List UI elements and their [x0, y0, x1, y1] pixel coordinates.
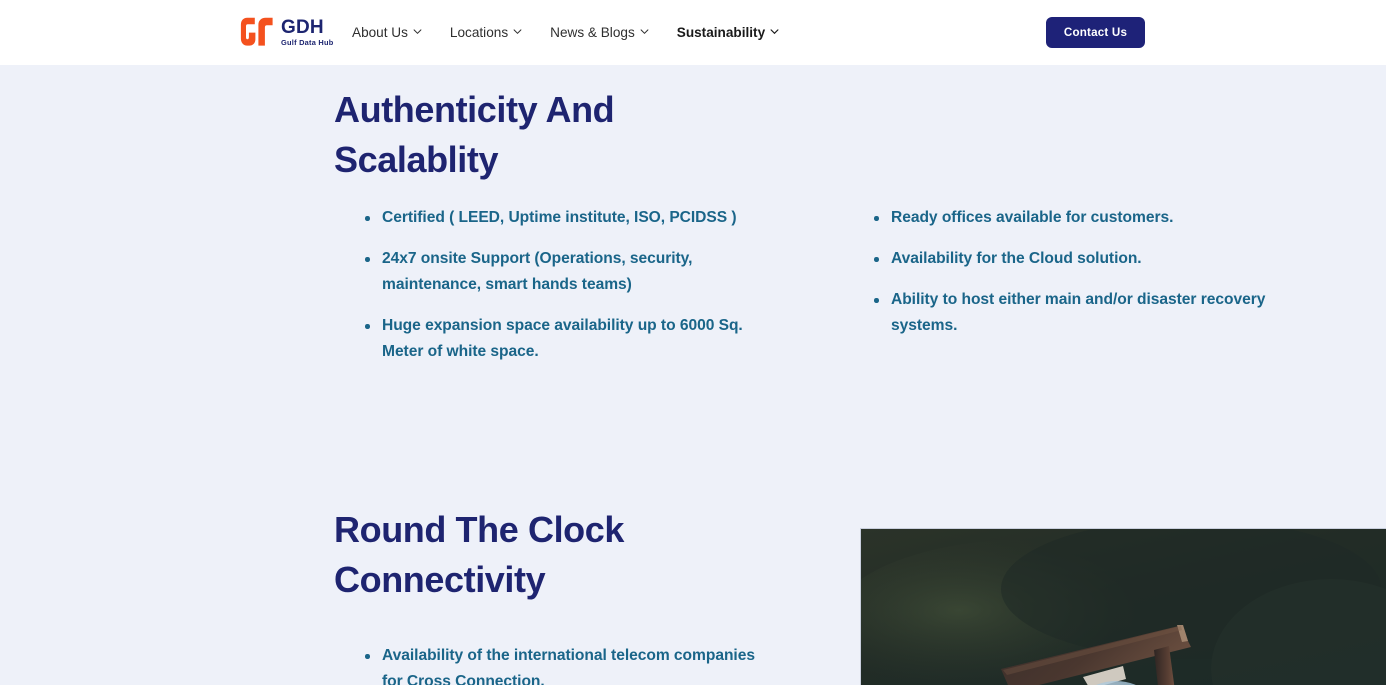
nav-item-label: Sustainability — [677, 25, 765, 40]
nav-item-label: News & Blogs — [550, 25, 635, 40]
list-item: Certified ( LEED, Uptime institute, ISO,… — [365, 205, 765, 231]
list-item: Availability for the Cloud solution. — [874, 246, 1274, 272]
list-item: Ability to host either main and/or disas… — [874, 287, 1274, 339]
gdh-logo-mark — [240, 17, 274, 47]
header-inner: GDH Gulf Data Hub About Us Locations New… — [0, 0, 1386, 65]
nav-item-label: Locations — [450, 25, 508, 40]
chevron-down-icon — [513, 27, 522, 36]
logo-link[interactable]: GDH Gulf Data Hub — [240, 17, 334, 47]
logo-subtitle: Gulf Data Hub — [281, 39, 334, 46]
section-title: Authenticity And Scalablity — [334, 85, 664, 185]
bullet-list-left: Certified ( LEED, Uptime institute, ISO,… — [365, 205, 765, 365]
nav-item-sustainability[interactable]: Sustainability — [677, 19, 779, 46]
site-header: GDH Gulf Data Hub About Us Locations New… — [0, 0, 1386, 65]
main-nav: About Us Locations News & Blogs Sustaina… — [352, 0, 779, 65]
list-item: Huge expansion space availability up to … — [365, 313, 765, 365]
nav-item-about-us[interactable]: About Us — [352, 19, 422, 46]
chevron-down-icon — [640, 27, 649, 36]
list-item: 24x7 onsite Support (Operations, securit… — [365, 246, 765, 298]
chevron-down-icon — [413, 27, 422, 36]
hourglass-photo — [860, 528, 1386, 685]
bullet-list-right: Ready offices available for customers. A… — [874, 205, 1274, 339]
chevron-down-icon — [770, 27, 779, 36]
list-item: Ready offices available for customers. — [874, 205, 1274, 231]
nav-item-locations[interactable]: Locations — [450, 19, 522, 46]
page-body: Authenticity And Scalablity Certified ( … — [0, 65, 1386, 685]
logo-title: GDH — [281, 18, 334, 37]
list-item: Availability of the international teleco… — [365, 643, 765, 685]
contact-us-button[interactable]: Contact Us — [1046, 17, 1145, 48]
logo-text: GDH Gulf Data Hub — [281, 18, 334, 46]
nav-item-label: About Us — [352, 25, 408, 40]
nav-item-news-and-blogs[interactable]: News & Blogs — [550, 19, 649, 46]
section-title: Round The Clock Connectivity — [334, 505, 664, 605]
bullet-list-left: Availability of the international teleco… — [365, 643, 765, 685]
